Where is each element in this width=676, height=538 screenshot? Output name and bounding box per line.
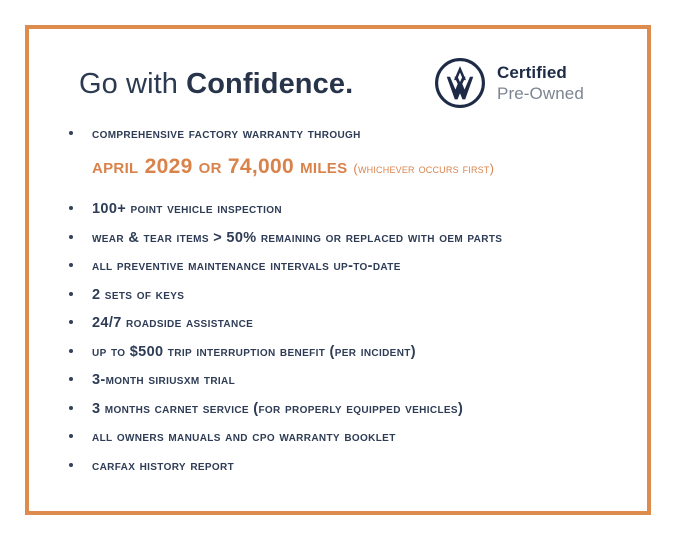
list-item: 24/7 Roadside Assistance xyxy=(29,314,647,332)
warranty-highlight-main: April 2029 or 74,000 miles xyxy=(92,155,347,178)
list-item: 3-Month SiriusXM Trial xyxy=(29,371,647,389)
bullet-dot-icon xyxy=(69,434,73,438)
benefit-label: 2 Sets of Keys xyxy=(92,287,184,303)
list-item: All Preventive Maintenance Intervals Up-… xyxy=(29,257,647,275)
cpo-badge-text: Certified Pre-Owned xyxy=(497,64,584,102)
headline-bold: Confidence. xyxy=(186,68,353,100)
bullet-dot-icon xyxy=(69,263,73,267)
list-item: Wear & Tear Items > 50% Remaining or Rep… xyxy=(29,229,647,247)
cpo-flyer: Go with Confidence. Certified Pre-Owned xyxy=(0,0,676,538)
bullet-dot-icon xyxy=(69,377,73,381)
bullet-dot-icon xyxy=(69,463,73,467)
list-item: 2 Sets of Keys xyxy=(29,286,647,304)
headline-regular: Go with xyxy=(79,68,186,100)
benefit-label: All Preventive Maintenance Intervals Up-… xyxy=(92,258,401,274)
benefit-label: 3-Month SiriusXM Trial xyxy=(92,372,235,388)
warranty-highlight: April 2029 or 74,000 miles(whichever occ… xyxy=(29,155,647,179)
list-item: 3 Months CarNet Service (for properly eq… xyxy=(29,400,647,418)
bullet-dot-icon xyxy=(69,349,73,353)
benefits-list: Comprehensive Factory Warranty Through A… xyxy=(29,125,647,485)
benefit-label: 100+ Point Vehicle Inspection xyxy=(92,201,282,217)
list-item: Comprehensive Factory Warranty Through xyxy=(29,125,647,143)
list-item: 100+ Point Vehicle Inspection xyxy=(29,200,647,218)
flyer-header: Go with Confidence. Certified Pre-Owned xyxy=(29,29,647,115)
benefit-label: Wear & Tear Items > 50% Remaining or Rep… xyxy=(92,230,502,246)
benefit-label: Up to $500 Trip Interruption Benefit (pe… xyxy=(92,344,416,360)
benefit-label: Comprehensive Factory Warranty Through xyxy=(92,126,361,142)
bullet-dot-icon xyxy=(69,235,73,239)
bullet-dot-icon xyxy=(69,292,73,296)
benefit-label: 24/7 Roadside Assistance xyxy=(92,315,253,331)
list-item: Up to $500 Trip Interruption Benefit (pe… xyxy=(29,343,647,361)
bullet-dot-icon xyxy=(69,406,73,410)
vw-certified-pre-owned-lockup: Certified Pre-Owned xyxy=(434,57,584,109)
bullet-dot-icon xyxy=(69,131,73,135)
page-title: Go with Confidence. xyxy=(79,67,353,101)
benefit-label: CarFax History Report xyxy=(92,458,234,474)
benefit-label: 3 Months CarNet Service (for properly eq… xyxy=(92,401,463,417)
warranty-highlight-note: (whichever occurs first) xyxy=(353,161,494,176)
list-item: All Owners Manuals and CPO Warranty Book… xyxy=(29,428,647,446)
orange-border-frame: Go with Confidence. Certified Pre-Owned xyxy=(25,25,651,515)
cpo-badge-line1: Certified xyxy=(497,64,584,81)
bullet-dot-icon xyxy=(69,206,73,210)
cpo-badge-line2: Pre-Owned xyxy=(497,85,584,102)
list-item: CarFax History Report xyxy=(29,457,647,475)
vw-roundel-icon xyxy=(434,57,486,109)
benefit-label: All Owners Manuals and CPO Warranty Book… xyxy=(92,429,396,445)
bullet-dot-icon xyxy=(69,320,73,324)
